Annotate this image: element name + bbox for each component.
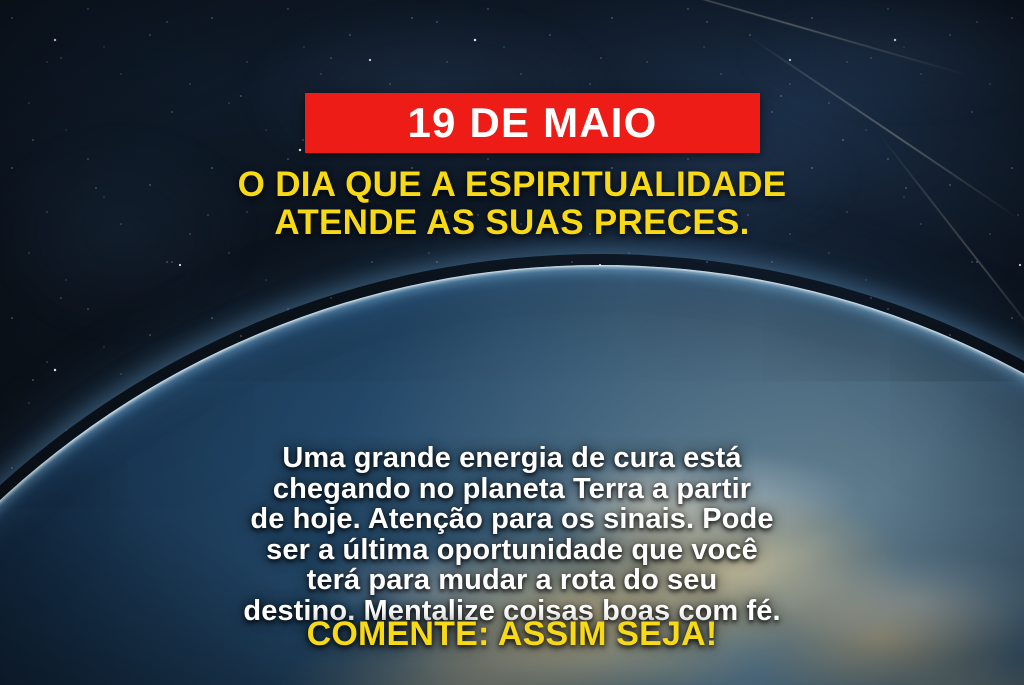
body-line-2: chegando no planeta Terra a partir <box>0 474 1024 505</box>
headline: O DIA QUE A ESPIRITUALIDADE ATENDE AS SU… <box>0 166 1024 242</box>
body-copy: Uma grande energia de cura está chegando… <box>0 443 1024 626</box>
body-line-5: terá para mudar a rota do seu <box>0 565 1024 596</box>
date-banner-label: 19 DE MAIO <box>407 102 657 144</box>
date-banner: 19 DE MAIO <box>305 93 760 153</box>
body-line-4: ser a última oportunidade que você <box>0 535 1024 566</box>
poster-content: 19 DE MAIO O DIA QUE A ESPIRITUALIDADE A… <box>0 0 1024 685</box>
call-to-action-text: COMENTE: ASSIM SEJA! <box>0 615 1024 653</box>
poster-canvas: 19 DE MAIO O DIA QUE A ESPIRITUALIDADE A… <box>0 0 1024 685</box>
body-line-3: de hoje. Atenção para os sinais. Pode <box>0 504 1024 535</box>
headline-line-2: ATENDE AS SUAS PRECES. <box>0 204 1024 242</box>
body-line-1: Uma grande energia de cura está <box>0 443 1024 474</box>
headline-line-1: O DIA QUE A ESPIRITUALIDADE <box>0 166 1024 204</box>
